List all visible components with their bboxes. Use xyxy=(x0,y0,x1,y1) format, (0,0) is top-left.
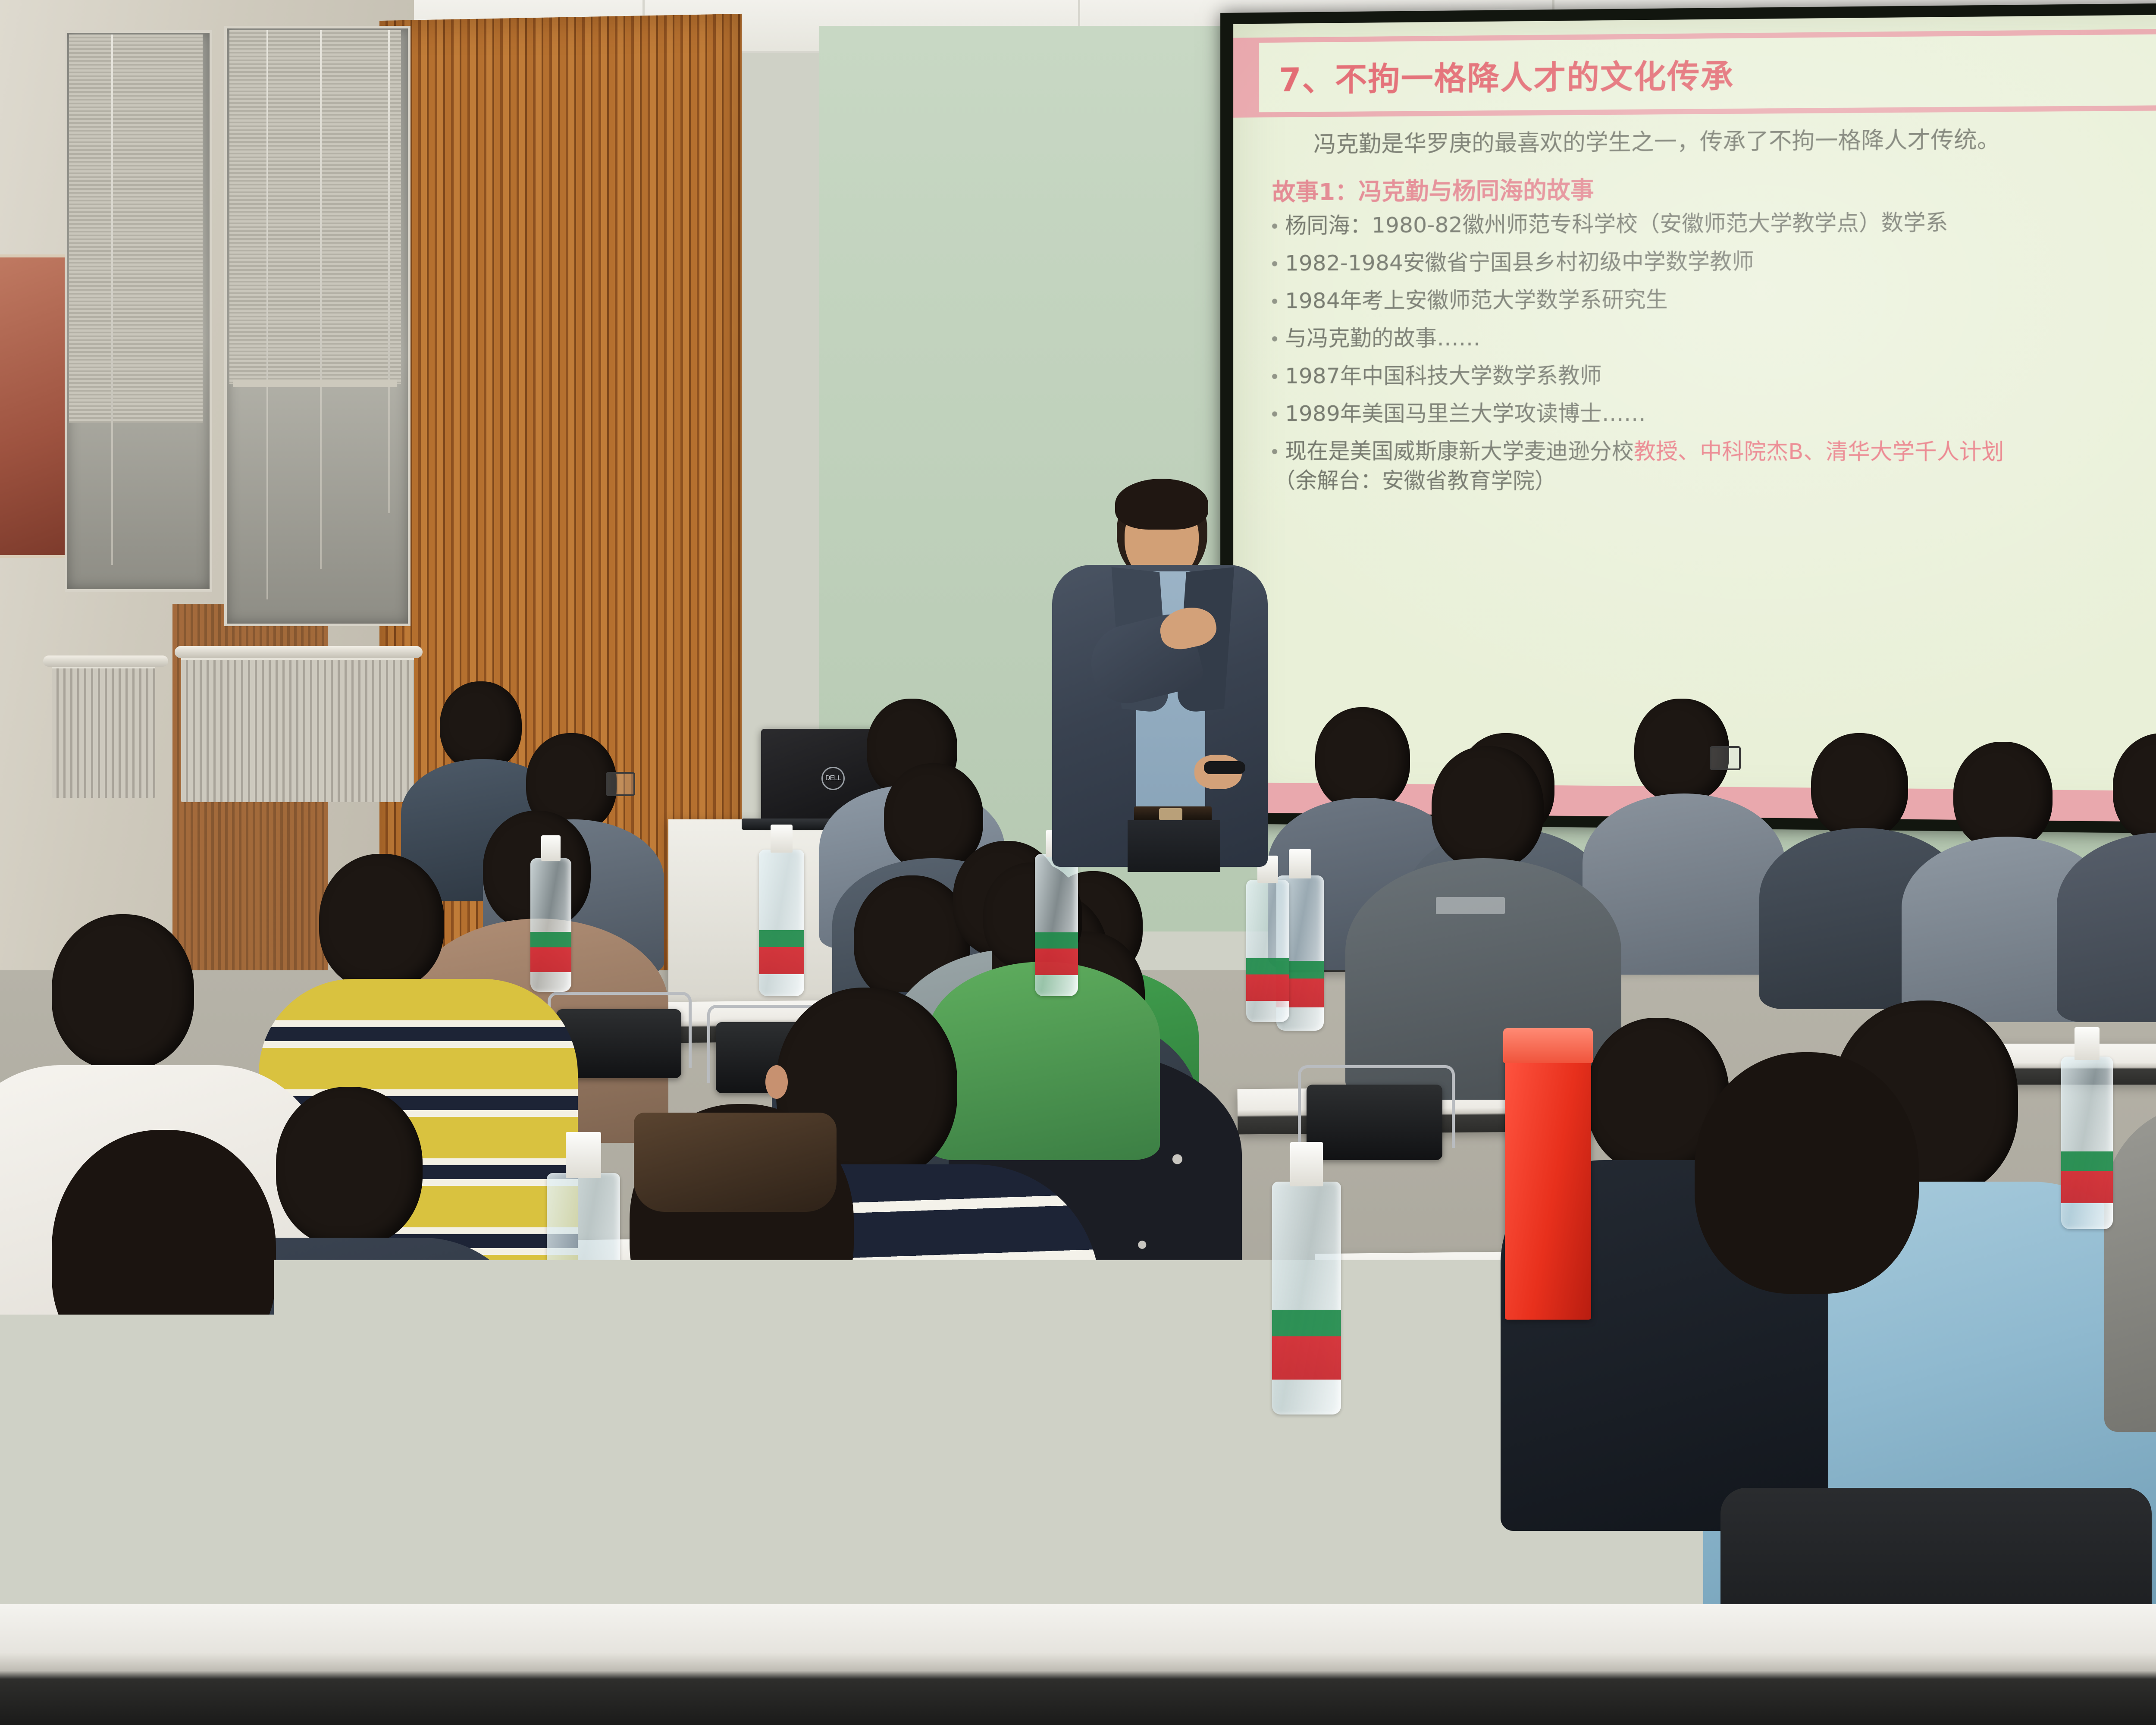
foreground-head xyxy=(52,1130,276,1376)
laptop-brand-mark: DELL xyxy=(821,767,845,790)
water-bottle[interactable] xyxy=(2061,1057,2113,1229)
blind-cord[interactable] xyxy=(266,30,268,599)
water-bottle[interactable] xyxy=(1035,854,1078,996)
chair-back[interactable] xyxy=(1307,1085,1442,1160)
water-bottle[interactable] xyxy=(750,1354,828,1621)
presenter-remote[interactable] xyxy=(1204,761,1245,774)
presenter-trousers xyxy=(1128,820,1220,872)
water-bottle[interactable] xyxy=(1272,1182,1341,1414)
audience-head xyxy=(1315,707,1410,811)
paper-sheet[interactable] xyxy=(452,1308,596,1369)
radiator-1 xyxy=(52,664,155,798)
window-blind-2 xyxy=(229,30,401,384)
water-bottle[interactable] xyxy=(1246,880,1289,1022)
bullet-text: 杨同海：1980-82徽州师范专科学校（安徽师范大学教学点）数学系 xyxy=(1285,210,1948,239)
slide-story-heading: 故事1：冯克勤与杨同海的故事 xyxy=(1272,166,2156,207)
red-thermos[interactable] xyxy=(1505,1052,1591,1320)
ear xyxy=(765,1065,788,1099)
glasses-icon xyxy=(1710,746,1741,770)
slide-body: 冯克勤是华罗庚的最喜欢的学生之一，传承了不拘一格降人才传统。 故事1：冯克勤与杨… xyxy=(1272,123,2156,772)
audience-head xyxy=(884,763,983,871)
water-bottle[interactable] xyxy=(759,850,804,996)
lecture-hall-photo: 7、不拘一格降人才的文化传承 合肥工业大学 HEFEI UNIVERSITY O… xyxy=(0,0,2156,1725)
blind-cord[interactable] xyxy=(320,30,322,569)
window-mullion xyxy=(233,379,397,387)
bullet-dot-icon xyxy=(1272,261,1277,267)
shirt-logo xyxy=(1436,897,1505,914)
radiator-cap xyxy=(175,646,423,658)
foreground-desk xyxy=(0,1604,2156,1725)
slide-bullet: 1987年中国科技大学数学系教师 xyxy=(1272,362,2156,389)
water-bottle[interactable] xyxy=(530,858,571,992)
audience-head xyxy=(319,854,444,990)
bullet-text: 与冯克勤的故事…… xyxy=(1285,326,1480,351)
audience-head xyxy=(1811,733,1908,839)
glasses-icon xyxy=(606,772,635,796)
bullet-dot-icon xyxy=(1272,224,1277,229)
audience-head xyxy=(1432,746,1544,869)
slide-bullet: 1982-1984安徽省宁国县乡村初级中学数学教师 xyxy=(1272,246,2156,276)
presenter xyxy=(1052,479,1276,867)
belt-buckle xyxy=(1159,808,1182,820)
slide-bullet: 现在是美国威斯康新大学麦迪逊分校教授、中科院杰B、清华大学千人计划 xyxy=(1272,439,2156,465)
presenter-hair xyxy=(1115,479,1208,530)
bullet-text: 1982-1984安徽省宁国县乡村初级中学数学教师 xyxy=(1285,249,1754,276)
bullet-dot-icon xyxy=(1272,411,1277,417)
radiator-cap xyxy=(43,655,168,667)
bullet-text: 1987年中国科技大学数学系教师 xyxy=(1285,363,1602,389)
blind-cord[interactable] xyxy=(388,30,390,513)
slide-trailing-line: （余解台：安徽省教育学院） xyxy=(1274,464,2156,497)
bullet-text-highlight: 教授、中科院杰B、清华大学千人计划 xyxy=(1634,439,2004,465)
audience-head xyxy=(276,1087,423,1246)
water-bottle[interactable] xyxy=(547,1173,620,1414)
bullet-text: 1984年考上安徽师范大学数学系研究生 xyxy=(1285,287,1668,314)
audience-head xyxy=(1953,742,2053,850)
bullet-dot-icon xyxy=(1272,336,1277,342)
bullet-text: 1989年美国马里兰大学攻读博士…… xyxy=(1285,401,1646,427)
slide-bullet: 1984年考上安徽师范大学数学系研究生 xyxy=(1272,285,2156,314)
audience-head xyxy=(440,681,522,770)
audience-head xyxy=(52,914,194,1069)
slide-title: 7、不拘一格降人才的文化传承 xyxy=(1279,50,1734,100)
slide-lead-paragraph: 冯克勤是华罗庚的最喜欢的学生之一，传承了不拘一格降人才传统。 xyxy=(1272,123,2156,159)
bullet-text: 现在是美国威斯康新大学麦迪逊分校教授、中科院杰B、清华大学千人计划 xyxy=(1285,439,2004,465)
bullet-dot-icon xyxy=(1272,374,1277,379)
window-blind-1 xyxy=(69,34,203,423)
bullet-dot-icon xyxy=(1272,299,1277,304)
bullet-dot-icon xyxy=(1272,449,1277,454)
slide-title-band: 7、不拘一格降人才的文化传承 合肥工业大学 HEFEI UNIVERSITY O… xyxy=(1233,25,2156,117)
foreground-head xyxy=(1695,1052,1919,1294)
radiator-2 xyxy=(181,655,414,802)
slide-bullet: 1989年美国马里兰大学攻读博士…… xyxy=(1272,401,2156,427)
bullet-text-plain: 现在是美国威斯康新大学麦迪逊分校 xyxy=(1285,439,1634,464)
handbag[interactable] xyxy=(634,1113,837,1212)
blind-cord[interactable] xyxy=(111,34,113,565)
slide-bullet: 与冯克勤的故事…… xyxy=(1272,323,2156,352)
slide-bullet: 杨同海：1980-82徽州师范专科学校（安徽师范大学教学点）数学系 xyxy=(1272,207,2156,239)
